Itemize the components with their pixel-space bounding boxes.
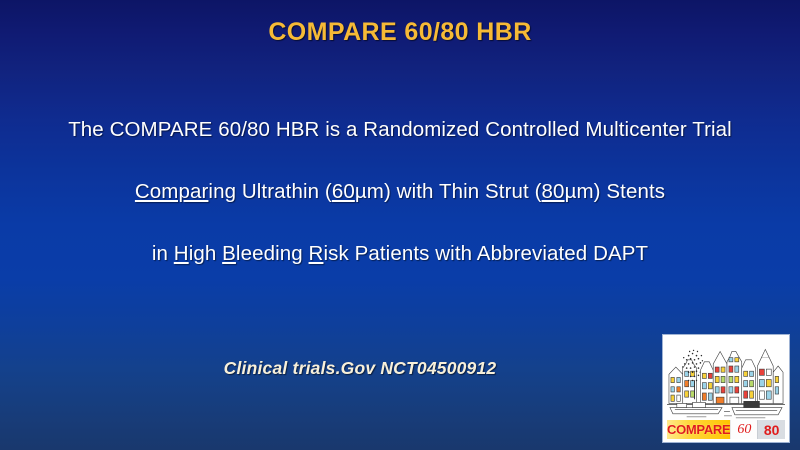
body-line-3-seg-5: leeding — [236, 242, 309, 265]
logo-value-60: 60 — [730, 420, 757, 439]
body-line-3-seg-3: igh — [189, 242, 222, 265]
body-line-2-seg-6: µm) Stents — [565, 180, 666, 203]
body-line-1: The COMPARE 60/80 HBR is a Randomized Co… — [0, 118, 800, 142]
body-line-1-text: The COMPARE 60/80 HBR is a Randomized Co… — [68, 118, 732, 141]
body-line-2-seg-3: 60 — [332, 180, 355, 203]
body-line-3-seg-7: isk Patients with Abbreviated DAPT — [323, 242, 648, 265]
body-line-2-seg-2: ing Ultrathin ( — [208, 180, 331, 203]
body-line-2: Comparing Ultrathin (60µm) with Thin Str… — [0, 180, 800, 204]
body-line-2-seg-5: 80 — [542, 180, 565, 203]
body-line-3: in High Bleeding Risk Patients with Abbr… — [0, 242, 800, 266]
presentation-slide: COMPARE 60/80 HBR The COMPARE 60/80 HBR … — [0, 0, 800, 450]
body-line-3-seg-4: B — [222, 242, 236, 265]
logo-value-80: 80 — [757, 420, 785, 439]
body-line-2-seg-1: Compar — [135, 180, 209, 203]
amsterdam-canal-houses-illustration — [667, 339, 785, 420]
body-line-3-seg-6: R — [309, 242, 324, 265]
body-line-3-seg-1: in — [152, 242, 174, 265]
slide-title: COMPARE 60/80 HBR — [0, 18, 800, 47]
logo-compare-label: COMPARE — [667, 420, 730, 439]
slide-body: The COMPARE 60/80 HBR is a Randomized Co… — [0, 118, 800, 266]
logo-label-bar: COMPARE 60 80 — [667, 420, 785, 439]
compare-trial-logo: COMPARE 60 80 — [662, 334, 790, 443]
body-line-3-seg-2: H — [174, 242, 189, 265]
body-line-2-seg-4: µm) with Thin Strut ( — [355, 180, 542, 203]
